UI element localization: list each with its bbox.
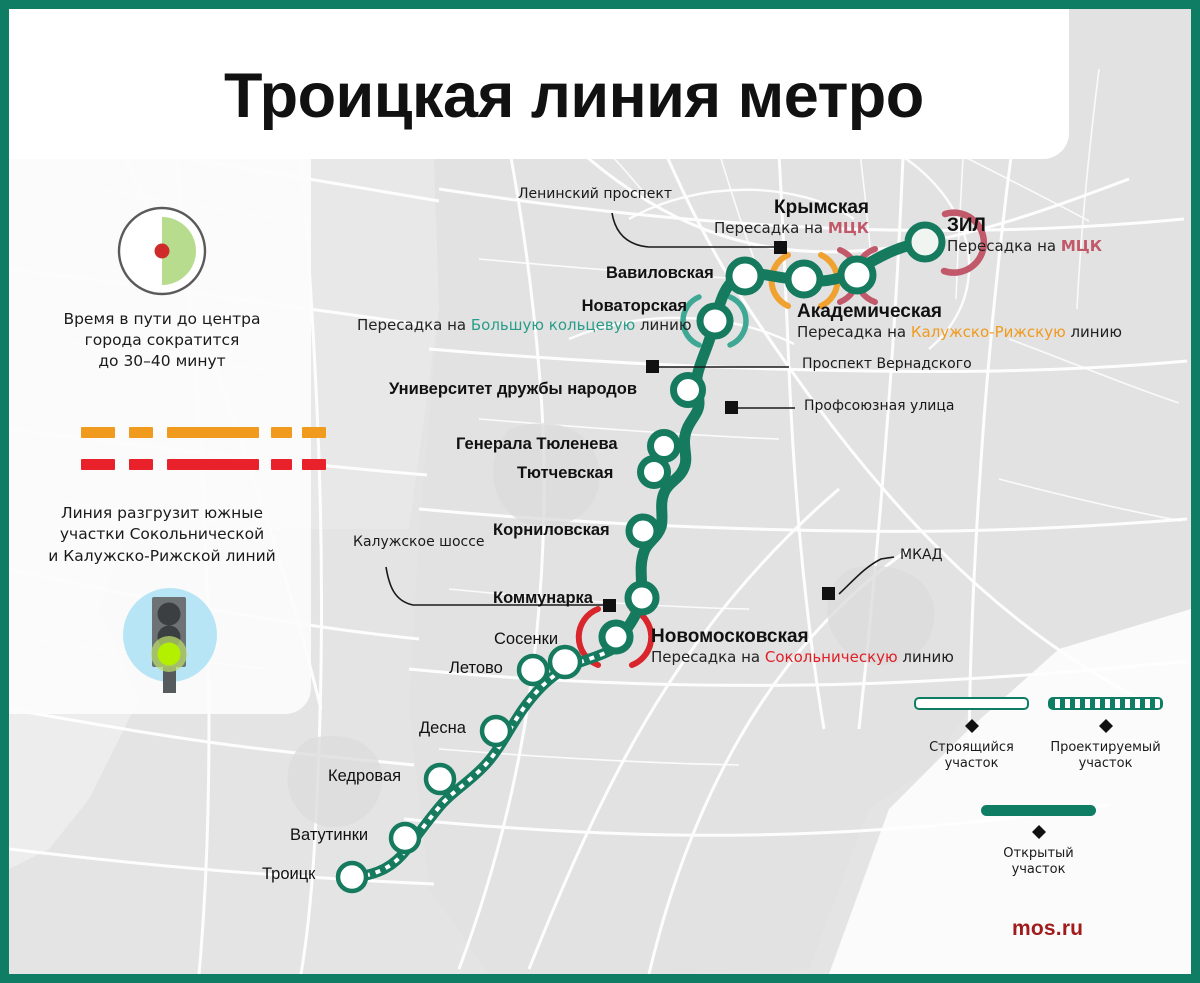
mosru-logo[interactable]: mos.ru: [1012, 917, 1083, 941]
station-label-kedrovaya: Кедровая: [328, 767, 401, 786]
pie-circle-icon: [116, 205, 208, 297]
fact-travel-time-line1: Время в пути до центра: [18, 309, 306, 330]
station-label-desna: Десна: [419, 719, 466, 738]
legend-item-open: Открытый участок: [981, 805, 1096, 879]
station-name: Кедровая: [328, 767, 401, 786]
fact-travel-time: Время в пути до центра города сократится…: [18, 205, 306, 372]
station-name: Троицк: [262, 865, 315, 884]
station-label-letovo: Летово: [449, 659, 503, 678]
transfer-prefix: Пересадка на: [714, 219, 828, 237]
diamond-icon: [965, 712, 979, 726]
fact-relief-line1: Линия разгрузит южные: [18, 503, 306, 524]
traffic-light-icon: [114, 579, 226, 697]
transfer-line: МЦК: [1061, 237, 1102, 255]
legend-item-projected: Проектируемый участок: [1048, 697, 1163, 773]
station-label-novatorskaya: Новаторская Пересадка на Большую кольцев…: [357, 297, 687, 334]
fact-relief: Линия разгрузит южные участки Сокольниче…: [18, 503, 306, 567]
page-title: Троицкая линия метро: [224, 60, 924, 132]
diamond-icon: [1099, 712, 1113, 726]
legend-swatch-hollow: [914, 697, 1029, 710]
legend-item-construction: Строящийся участок: [914, 697, 1029, 773]
fact-relief-line2: участки Сокольнической: [18, 524, 306, 545]
fact-travel-time-line2: города сократится: [18, 330, 306, 351]
poi-label-prospekt-vernadskogo: Проспект Вернадского: [802, 356, 972, 372]
station-label-sosenki: Сосенки: [494, 630, 558, 649]
station-label-novomoskovskaya: Новомосковская Пересадка на Сокольническ…: [651, 626, 954, 666]
station-name: Генерала Тюленева: [456, 435, 618, 454]
station-name: Академическая: [797, 301, 1122, 323]
transfer-line: Калужско-Рижскую: [911, 323, 1066, 341]
legend-caption-line2: участок: [1048, 756, 1163, 772]
poi-label-profsoyuznaya-ulitsa: Профсоюзная улица: [804, 398, 955, 414]
station-label-akademicheskaya: Академическая Пересадка на Калужско-Рижс…: [797, 301, 1122, 341]
station-label-kornilovskaya: Корниловская: [493, 521, 610, 540]
legend-caption-line2: участок: [981, 862, 1096, 878]
station-name: Новаторская: [357, 297, 687, 316]
station-name: Десна: [419, 719, 466, 738]
station-label-vatutinki: Ватутинки: [290, 826, 368, 845]
transfer-suffix: линию: [1066, 323, 1122, 341]
dash-sample-orange: [81, 427, 313, 438]
station-name: Тютчевская: [517, 464, 613, 483]
station-name: Сосенки: [494, 630, 558, 649]
station-name: Ватутинки: [290, 826, 368, 845]
infographic-root: Троицкая линия метро Время в пути до цен…: [0, 0, 1200, 983]
station-transfer: Пересадка на Калужско-Рижскую линию: [797, 323, 1122, 341]
transfer-prefix: Пересадка на: [797, 323, 911, 341]
legend-caption-line2: участок: [914, 756, 1029, 772]
legend-caption-line1: Открытый: [981, 846, 1096, 862]
station-label-tyutchevskaya: Тютчевская: [517, 464, 613, 483]
legend-swatch-solid: [981, 805, 1096, 816]
station-transfer: Пересадка на МЦК: [947, 237, 1102, 255]
station-name: Новомосковская: [651, 626, 954, 648]
dash-sample-red: [81, 459, 313, 470]
legend-caption-line1: Строящийся: [914, 740, 1029, 756]
station-label-generala-tyuleneva: Генерала Тюленева: [456, 435, 618, 454]
poi-label-mkad: МКАД: [900, 547, 943, 563]
station-label-zil: ЗИЛ Пересадка на МЦК: [947, 215, 1102, 255]
station-name: Летово: [449, 659, 503, 678]
relief-line-samples: [81, 427, 313, 491]
legend-swatch-dotted: [1048, 697, 1163, 710]
station-transfer: Пересадка на Сокольническую линию: [651, 648, 954, 666]
station-label-krymskaya: Крымская Пересадка на МЦК: [649, 197, 869, 237]
transfer-prefix: Пересадка на: [357, 316, 471, 334]
poi-label-kaluzhskoe-shosse: Калужское шоссе: [353, 534, 485, 550]
station-name: Крымская: [649, 197, 869, 219]
station-label-udn: Университет дружбы народов: [389, 380, 637, 399]
transfer-suffix: линию: [898, 648, 954, 666]
station-transfer: Пересадка на Большую кольцевую линию: [357, 316, 687, 334]
station-label-vavilovskaya: Вавиловская: [606, 264, 714, 283]
legend-caption-line1: Проектируемый: [1048, 740, 1163, 756]
transfer-line: Большую кольцевую: [471, 316, 635, 334]
station-label-troitsk: Троицк: [262, 865, 315, 884]
poi-label-leninsky-prospekt: Ленинский проспект: [518, 186, 672, 202]
transfer-prefix: Пересадка на: [947, 237, 1061, 255]
diamond-icon: [1032, 818, 1046, 832]
transfer-line: МЦК: [828, 219, 869, 237]
traffic-light-wrap: [114, 579, 226, 702]
transfer-prefix: Пересадка на: [651, 648, 765, 666]
station-transfer: Пересадка на МЦК: [649, 219, 869, 237]
transfer-line: Сокольническую: [765, 648, 898, 666]
transfer-suffix: линию: [635, 316, 691, 334]
station-name: Коммунарка: [493, 589, 593, 608]
station-name: Вавиловская: [606, 264, 714, 283]
station-label-kommunarka: Коммунарка: [493, 589, 593, 608]
fact-relief-line3: и Калужско-Рижской линий: [18, 546, 306, 567]
station-name: Университет дружбы народов: [389, 380, 637, 399]
station-name: ЗИЛ: [947, 215, 1102, 237]
station-name: Корниловская: [493, 521, 610, 540]
fact-travel-time-line3: до 30–40 минут: [18, 351, 306, 372]
